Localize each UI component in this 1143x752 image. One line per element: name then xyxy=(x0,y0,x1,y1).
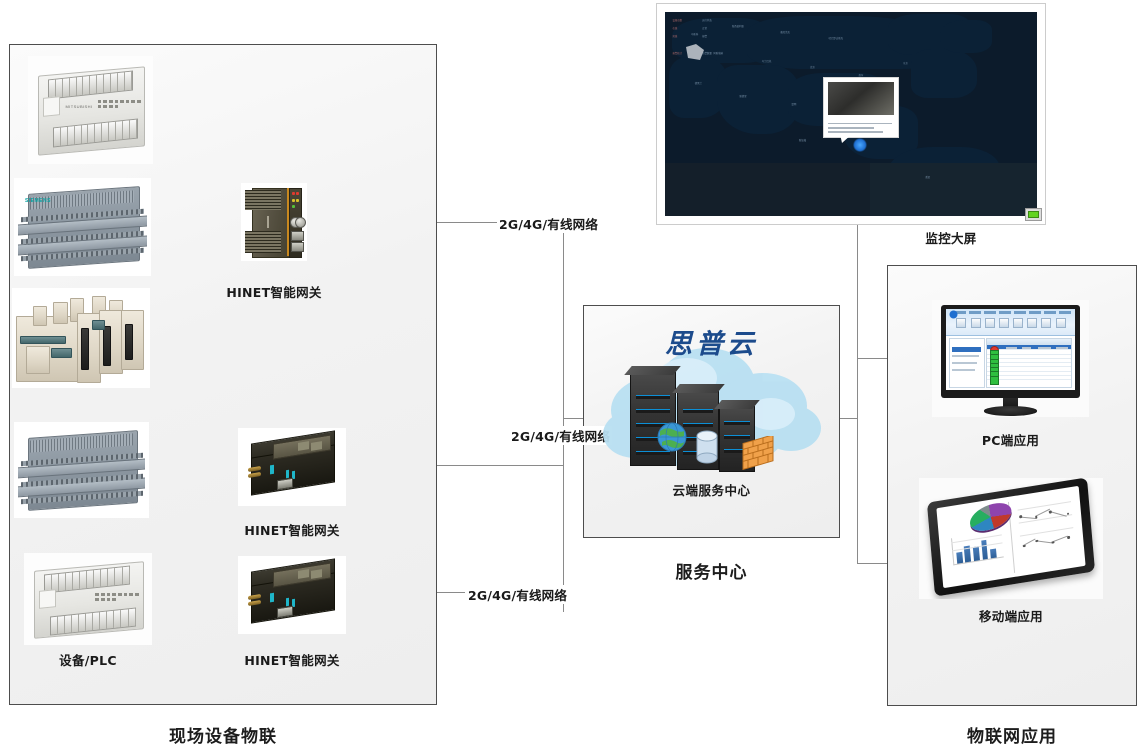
device-plc-rack-group xyxy=(12,288,150,388)
link-label-net-bottom: 2G/4G/有线网络 xyxy=(466,585,569,604)
label-gateway-3: HINET智能网关 xyxy=(232,650,352,669)
device-gateway-din-1 xyxy=(241,183,307,261)
cloud-brand-text: 思普云 xyxy=(595,322,828,361)
firewall-icon xyxy=(741,436,775,470)
device-plc-siemens-1: SIEMENS xyxy=(14,178,151,276)
link-left-trunk xyxy=(563,222,564,612)
label-big-screen: 监控大屏 xyxy=(831,228,1071,247)
globe-icon xyxy=(657,422,687,452)
label-device-plc: 设备/PLC xyxy=(24,650,152,669)
link-label-net-top: 2G/4G/有线网络 xyxy=(497,214,600,233)
plc-brand-text: SIEMENS xyxy=(25,198,51,204)
pc-app-tree-panel xyxy=(949,338,986,387)
label-mobile-app: 移动端应用 xyxy=(919,606,1103,625)
zone-label-iot: 物联网应用 xyxy=(887,722,1137,747)
label-gateway-1: HINET智能网关 xyxy=(214,282,334,301)
zone-label-field: 现场设备物联 xyxy=(9,722,437,747)
app-logo-icon xyxy=(949,310,958,319)
legend-shape-icon xyxy=(684,43,706,61)
zone-label-service: 服务中心 xyxy=(583,558,840,583)
device-tablet xyxy=(919,478,1103,599)
label-pc-app: PC端应用 xyxy=(932,430,1089,449)
tablet-screen xyxy=(936,486,1085,589)
diagram-canvas: MITSUBISHI SIEMENS xyxy=(0,0,1143,752)
map-popup xyxy=(823,77,899,138)
device-plc-mitsubishi-2 xyxy=(24,553,152,645)
big-screen-map: 马斯科 新西伯利亚 雅库茨克 哈巴罗夫斯克 阿斯塔纳 乌兰巴托 北京 首尔 东京… xyxy=(665,12,1037,216)
device-pc-monitor xyxy=(932,300,1089,417)
plc-brand-text: MITSUBISHI xyxy=(66,104,93,109)
device-gateway-box-1 xyxy=(238,428,346,506)
device-plc-mitsubishi-1: MITSUBISHI xyxy=(28,56,153,164)
label-cloud-center: 云端服务中心 xyxy=(595,480,828,499)
device-gateway-box-2 xyxy=(238,556,346,634)
popup-device-photo xyxy=(828,82,894,115)
device-big-screen: 马斯科 新西伯利亚 雅库茨克 哈巴罗夫斯克 阿斯塔纳 乌兰巴托 北京 首尔 东京… xyxy=(656,3,1046,225)
label-gateway-2: HINET智能网关 xyxy=(232,520,352,539)
database-icon xyxy=(695,430,719,464)
screen-power-led xyxy=(1025,208,1042,221)
cloud-service-center: 思普云 xyxy=(595,318,828,508)
pc-app-data-grid xyxy=(986,338,1072,387)
device-plc-siemens-2 xyxy=(14,422,149,518)
popup-tail-icon xyxy=(840,134,854,144)
